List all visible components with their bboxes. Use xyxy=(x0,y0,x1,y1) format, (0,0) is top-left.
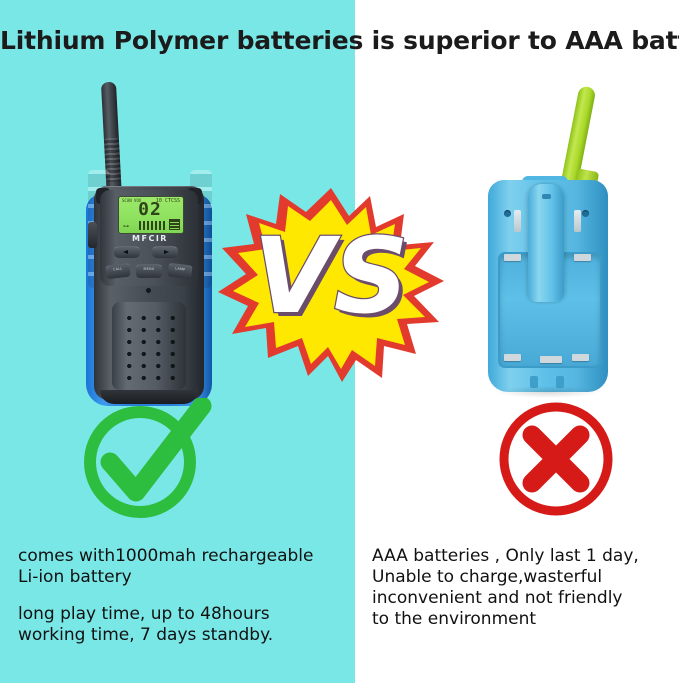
left-device-lamp-button: LAMP xyxy=(167,263,193,280)
right-drawback-text: AAA batteries , Only last 1 day, Unable … xyxy=(372,546,678,630)
left-product-walkie-talkie: SCAN VOX 10 CTCSS 02 ⊶ MFCIR CALL MENU L… xyxy=(80,82,220,407)
right-product-walkie-talkie xyxy=(478,82,628,407)
left-device-lcd-screen: SCAN VOX 10 CTCSS 02 ⊶ xyxy=(118,196,184,234)
lcd-signal-bars-icon xyxy=(139,221,165,230)
red-cross-circle-icon xyxy=(490,398,622,520)
right-device-slot-right xyxy=(574,210,581,232)
left-device-ptt-button xyxy=(88,222,97,248)
left-device-arrow-left-button xyxy=(114,246,140,258)
left-device-speaker-grille xyxy=(120,310,178,382)
right-device-screw-right xyxy=(582,210,589,217)
left-benefit-text-1: comes with1000mah rechargeable Li-ion ba… xyxy=(18,546,354,588)
vs-label: VS xyxy=(253,215,408,337)
left-benefit-text-2: long play time, up to 48hours working ti… xyxy=(18,604,354,646)
left-device-arrow-right-button xyxy=(152,246,178,258)
left-device-menu-button: MENU xyxy=(136,264,162,278)
right-device-belt-clip xyxy=(528,184,564,302)
lcd-battery-icon xyxy=(169,219,180,230)
page-title: Lithium Polymer batteries is superior to… xyxy=(0,26,679,55)
vs-badge: VS VS xyxy=(218,186,444,382)
vs-starburst-icon: VS VS xyxy=(218,186,444,382)
lcd-channel-number: 02 xyxy=(133,201,167,219)
comparison-infographic: Lithium Polymer batteries is superior to… xyxy=(0,0,679,687)
right-device-clip-detail xyxy=(542,194,551,199)
right-device-shadow xyxy=(496,386,600,398)
left-device-call-button: CALL xyxy=(105,263,131,280)
battery-contact xyxy=(574,254,591,261)
left-device-microphone xyxy=(146,288,151,293)
battery-contact xyxy=(540,356,562,363)
right-device-slot-left xyxy=(514,210,521,232)
battery-contact xyxy=(504,254,521,261)
left-device-brand-label: MFCIR xyxy=(118,234,182,243)
battery-contact xyxy=(572,354,589,361)
lcd-lock-icon: ⊶ xyxy=(123,223,129,230)
right-device-screw-left xyxy=(504,210,511,217)
green-check-circle-icon xyxy=(78,398,212,522)
battery-contact xyxy=(504,354,521,361)
